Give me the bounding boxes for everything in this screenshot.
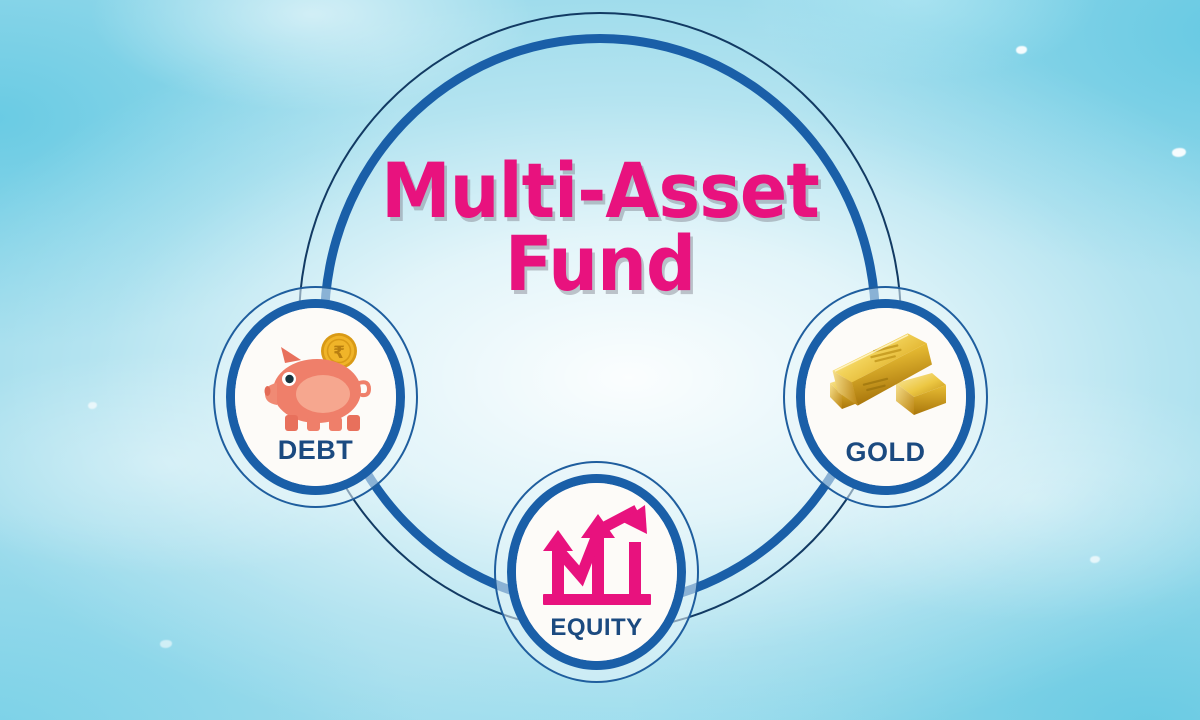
title-line-2: Fund — [352, 228, 849, 301]
node-gold-label: GOLD — [846, 439, 926, 466]
node-debt-face: ₹ DEBT — [235, 308, 396, 486]
node-equity[interactable]: EQUITY — [494, 461, 699, 683]
node-debt[interactable]: ₹ DEBT — [213, 286, 418, 508]
multi-asset-fund-infographic: Multi-Asset Fund ₹ — [0, 0, 1200, 720]
node-debt-label: DEBT — [278, 437, 354, 464]
node-gold-face: GOLD — [805, 308, 966, 486]
gold-bars-icon — [822, 329, 950, 433]
node-equity-face: EQUITY — [516, 483, 677, 661]
node-gold[interactable]: GOLD — [783, 286, 988, 508]
piggy-bank-with-rupee-coin-icon: ₹ — [251, 331, 381, 433]
page-title: Multi-Asset Fund — [352, 155, 849, 301]
node-equity-label: EQUITY — [550, 616, 642, 640]
rising-bar-chart-arrow-icon — [537, 504, 657, 610]
svg-text:₹: ₹ — [333, 343, 345, 363]
